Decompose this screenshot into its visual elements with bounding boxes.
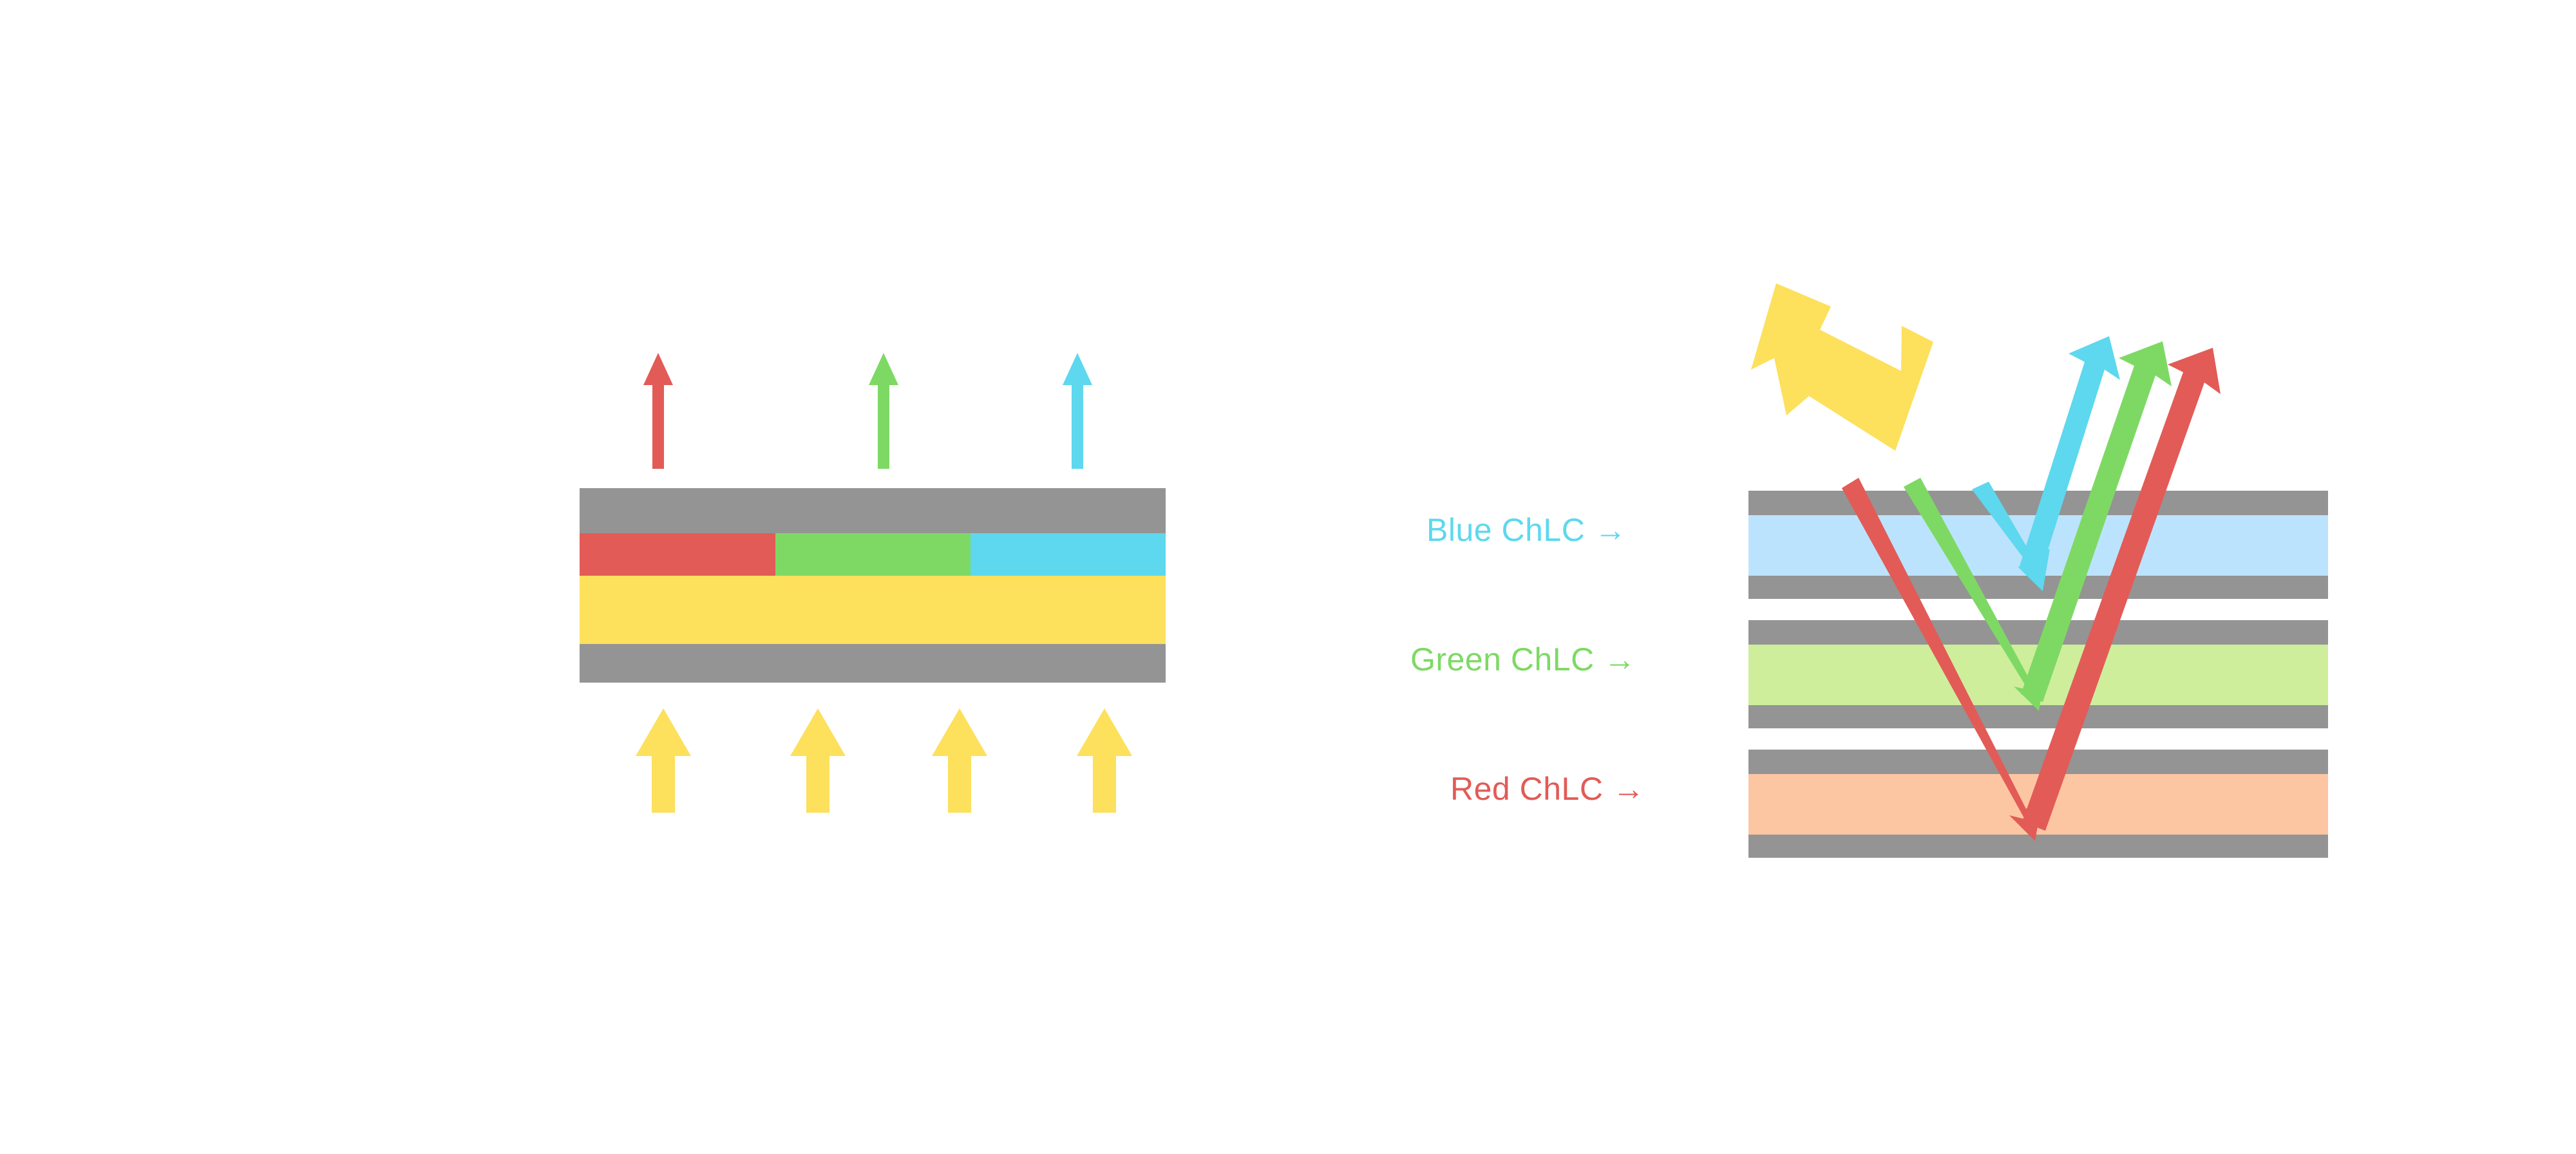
green-filter-segment — [775, 533, 971, 576]
green-emitted-arrow — [869, 353, 898, 469]
diagram-canvas: Blue ChLC → Green ChLC → Red ChLC → — [0, 0, 2576, 1154]
left-layer-stack — [580, 488, 1166, 683]
blue-emitted-arrow — [1063, 353, 1092, 469]
backlight-arrow — [1077, 708, 1132, 813]
emitted-light-arrows — [643, 353, 1092, 469]
red-chlc-label-text: Red ChLC — [1450, 771, 1603, 807]
right-panel — [1748, 283, 2328, 858]
green-chlc-label-text: Green ChLC — [1410, 641, 1595, 677]
backlight-arrow — [636, 708, 691, 813]
red-bottom-electrode — [1748, 835, 2328, 858]
red-filter-segment — [580, 533, 775, 576]
diagram-svg — [0, 0, 2576, 1154]
green-chlc-label: Green ChLC → — [1410, 641, 1636, 678]
red-emitted-arrow — [643, 353, 673, 469]
red-chlc-arrow-icon: → — [1613, 771, 1645, 807]
top-electrode-layer — [580, 488, 1166, 533]
left-panel — [580, 353, 1166, 813]
blue-chlc-label-text: Blue ChLC — [1426, 512, 1585, 548]
blue-chlc-arrow-icon: → — [1595, 512, 1627, 548]
green-chlc-arrow-icon: → — [1604, 641, 1636, 677]
backlight-layer — [580, 576, 1166, 644]
white-light-incident-arrow — [1751, 283, 1933, 451]
backlight-arrow — [932, 708, 987, 813]
backlight-arrows — [636, 708, 1132, 813]
green-top-electrode — [1748, 620, 2328, 645]
backlight-arrow — [790, 708, 846, 813]
red-chlc-label: Red ChLC → — [1450, 770, 1645, 808]
blue-filter-segment — [971, 533, 1166, 576]
bottom-electrode-layer — [580, 644, 1166, 683]
blue-chlc-label: Blue ChLC → — [1426, 511, 1627, 549]
red-top-electrode — [1748, 750, 2328, 774]
